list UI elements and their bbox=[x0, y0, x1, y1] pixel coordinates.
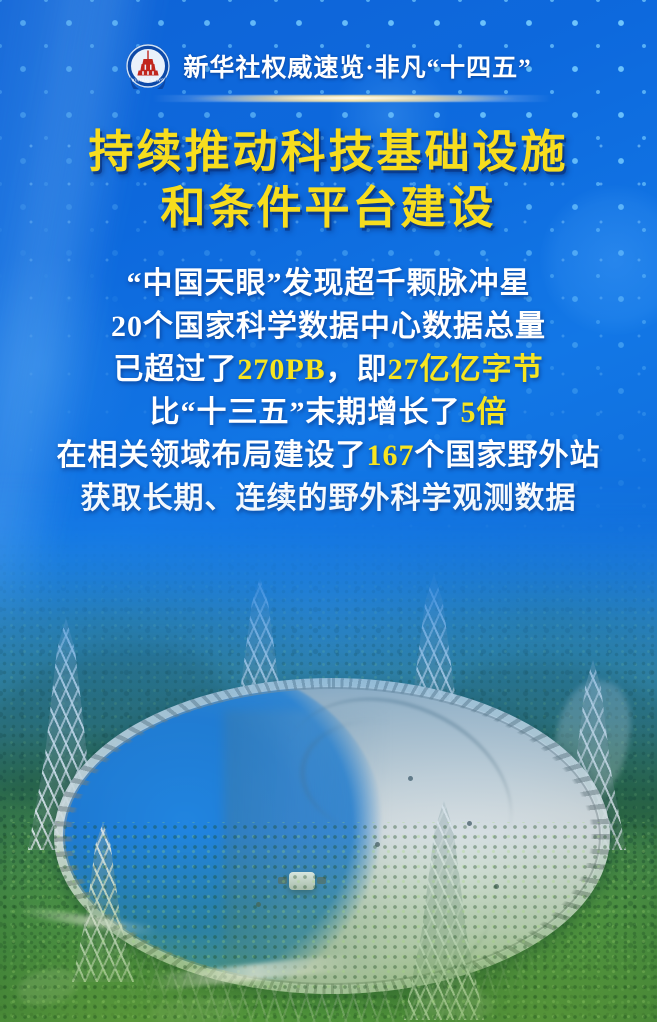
body-text-segment: 20个国家科学数据中心数据总量 bbox=[111, 310, 546, 343]
body-text-line: “中国天眼”发现超千颗脉冲星 bbox=[0, 262, 657, 305]
body-text-line: 已超过了270PB，即27亿亿字节 bbox=[0, 348, 657, 391]
poster-root: XINHUA NEWS 新华社权威速览·非凡“十四五” 持续推动科技基础设施 和… bbox=[0, 0, 657, 1022]
highlighted-figure: 167 bbox=[367, 439, 415, 472]
fast-radio-telescope-photo bbox=[0, 470, 657, 1022]
page-title-line-2: 和条件平台建设 bbox=[0, 180, 657, 236]
xinhua-emblem-icon: XINHUA NEWS bbox=[125, 43, 171, 89]
body-text-line: 20个国家科学数据中心数据总量 bbox=[0, 305, 657, 348]
page-title-line-1: 持续推动科技基础设施 bbox=[0, 124, 657, 180]
highlighted-figure: 5倍 bbox=[461, 396, 508, 429]
body-text-segment: “中国天眼”发现超千颗脉冲星 bbox=[127, 267, 531, 300]
highlighted-figure: 270PB bbox=[237, 353, 325, 386]
body-text-segment: ，即 bbox=[326, 353, 388, 386]
body-text-segment: 比“十三五”末期增长了 bbox=[150, 396, 461, 429]
header-bar: XINHUA NEWS 新华社权威速览·非凡“十四五” bbox=[0, 40, 657, 92]
body-text-segment: 已超过了 bbox=[113, 353, 237, 386]
header-title: 新华社权威速览·非凡“十四五” bbox=[183, 48, 531, 84]
body-text-segment: 个国家野外站 bbox=[415, 439, 601, 472]
header-divider bbox=[152, 95, 552, 102]
page-title: 持续推动科技基础设施 和条件平台建设 bbox=[0, 124, 657, 236]
highlighted-figure: 27亿亿字节 bbox=[388, 353, 544, 386]
body-text-segment: 在相关领域布局建设了 bbox=[57, 439, 367, 472]
body-text-line: 比“十三五”末期增长了5倍 bbox=[0, 391, 657, 434]
svg-text:XINHUA NEWS: XINHUA NEWS bbox=[132, 77, 164, 82]
